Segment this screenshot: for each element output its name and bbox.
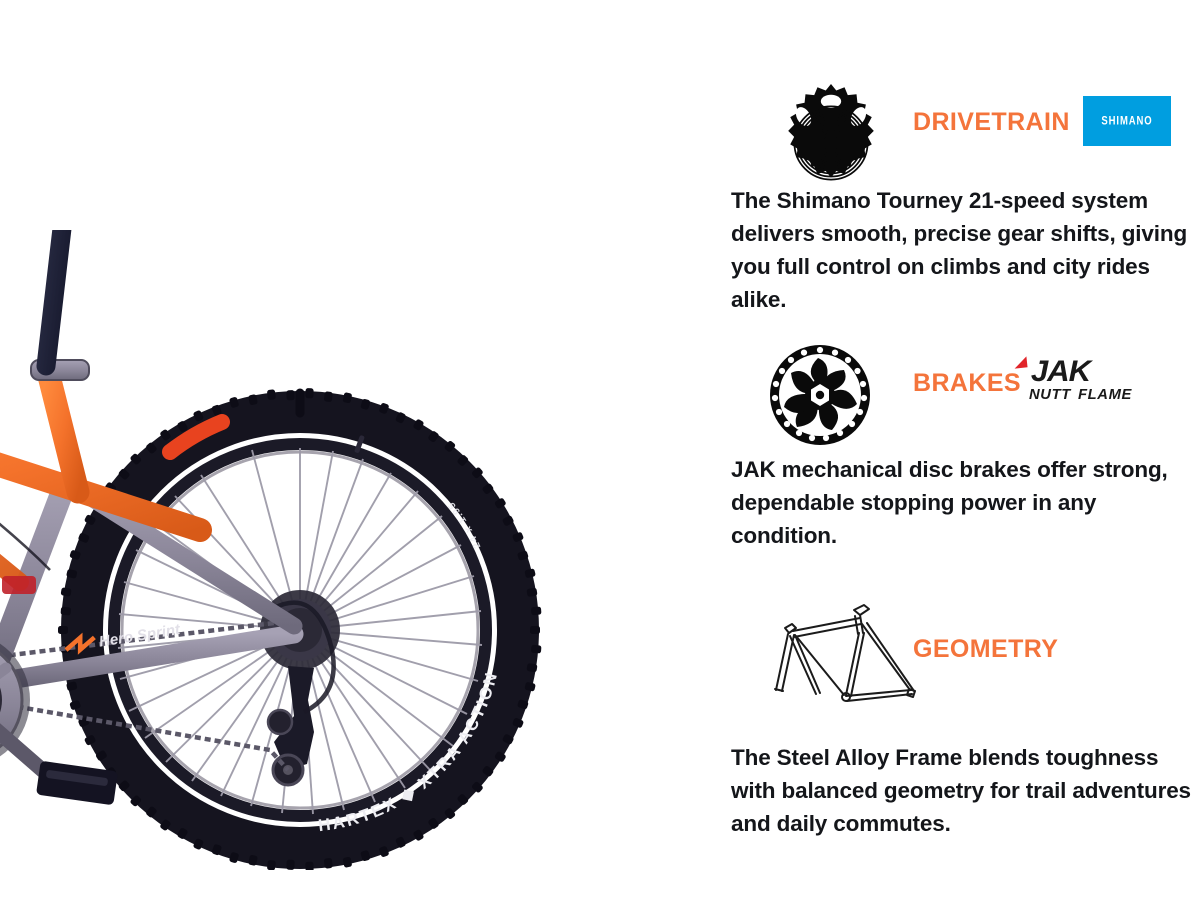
jak-flame-accent-icon — [1013, 356, 1027, 368]
shimano-brand-logo: SHIMANO — [1083, 96, 1171, 146]
jak-subwordmark: NUTTFLAME — [1029, 387, 1132, 403]
jak-sub-nutt: NUTT — [1029, 387, 1071, 403]
feature-list-pane: DRIVETRAIN SHIMANO The Shimano Tourney 2… — [700, 0, 1200, 900]
down-tube — [0, 426, 20, 582]
seat-post — [46, 230, 66, 366]
jak-sub-flame: FLAME — [1078, 387, 1132, 403]
product-photo-pane: Hero Sprint HARTEX ◆ XTRA ACTION 24 x 1.… — [0, 0, 700, 900]
jak-wordmark: JAK — [1031, 355, 1090, 389]
feature-body-geometry: The Steel Alloy Frame blends toughness w… — [731, 742, 1196, 841]
bicycle-product-image: Hero Sprint HARTEX ◆ XTRA ACTION 24 x 1.… — [0, 230, 630, 870]
feature-header-drivetrain: DRIVETRAIN SHIMANO — [700, 72, 1200, 198]
disc-brake-rotor-icon — [768, 343, 872, 452]
feature-drivetrain: DRIVETRAIN SHIMANO The Shimano Tourney 2… — [700, 72, 1200, 316]
bicycle-illustration: Hero Sprint HARTEX ◆ XTRA ACTION 24 x 1.… — [0, 230, 630, 870]
feature-geometry: GEOMETRY The Steel Alloy Frame blends to… — [700, 592, 1200, 841]
feature-brakes: BRAKES JAK NUTTFLAME JAK mechanical disc… — [700, 333, 1200, 553]
shimano-wordmark: SHIMANO — [1101, 114, 1152, 127]
bike-frame-outline-icon — [768, 598, 934, 713]
shimano-logo-box: SHIMANO — [1083, 96, 1171, 146]
seatpost-group — [31, 230, 89, 380]
feature-title-brakes: BRAKES — [913, 369, 1021, 398]
feature-header-geometry: GEOMETRY — [700, 592, 1200, 724]
cassette-sprocket-icon — [770, 82, 892, 209]
frame-decal-red — [2, 576, 36, 594]
product-feature-sheet: Hero Sprint HARTEX ◆ XTRA ACTION 24 x 1.… — [0, 0, 1200, 900]
feature-header-brakes: BRAKES JAK NUTTFLAME — [700, 333, 1200, 459]
feature-body-brakes: JAK mechanical disc brakes offer strong,… — [731, 454, 1196, 553]
feature-title-geometry: GEOMETRY — [913, 635, 1058, 664]
feature-title-drivetrain: DRIVETRAIN — [913, 108, 1070, 137]
